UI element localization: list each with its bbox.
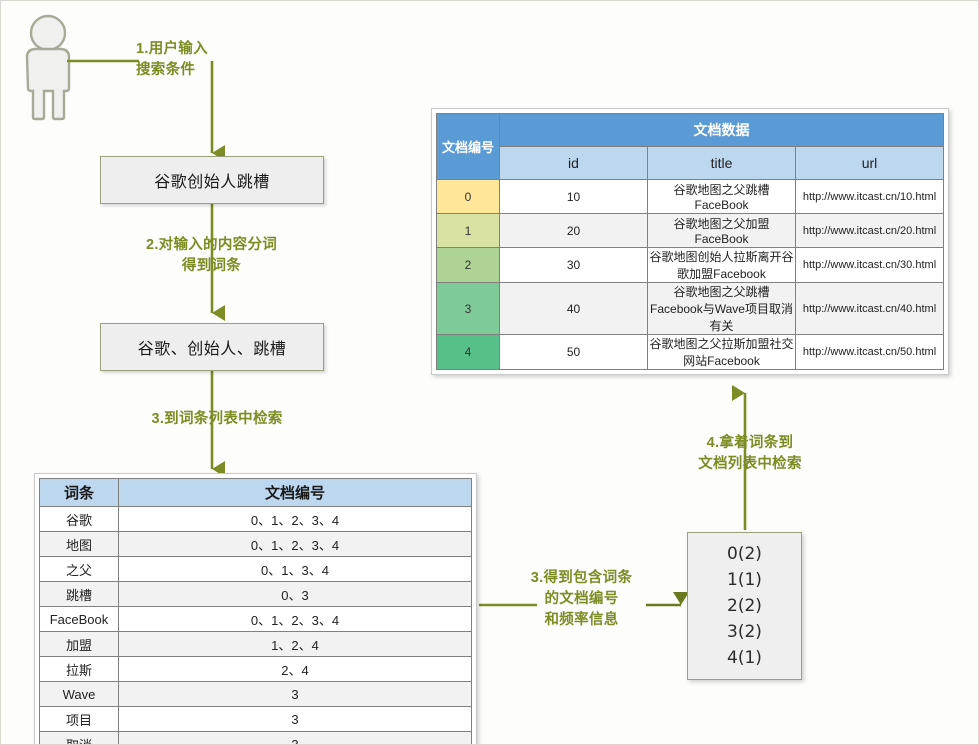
- doc-frequency-box: 0(2)1(1)2(2)3(2)4(1): [687, 532, 802, 680]
- term-table-row: Wave3: [40, 682, 472, 707]
- term-table-header-row: 词条 文档编号: [40, 479, 472, 507]
- term-table-cell-term: 谷歌: [40, 507, 119, 532]
- term-table-row: 地图0、1、2、3、4: [40, 532, 472, 557]
- doc-frequency-line: 1(1): [727, 567, 762, 593]
- doc-frequency-line: 4(1): [727, 645, 762, 671]
- doc-table-cell-url: http://www.itcast.cn/10.html: [796, 180, 944, 214]
- term-table-cell-docs: 0、1、2、3、4: [119, 532, 472, 557]
- term-table-row: 跳槽0、3: [40, 582, 472, 607]
- term-table-cell-term: Wave: [40, 682, 119, 707]
- doc-table-cell-docno: 1: [437, 214, 500, 248]
- query-input-box: 谷歌创始人跳槽: [100, 156, 324, 204]
- doc-frequency-line: 2(2): [727, 593, 762, 619]
- doc-table-cell-title: 谷歌地图之父拉斯加盟社交网站Facebook: [648, 335, 796, 370]
- step3-label: 3.到词条列表中检索: [137, 409, 297, 430]
- doc-table-cell-title: 谷歌地图之父跳槽FaceBook: [648, 180, 796, 214]
- doc-table-cell-docno: 4: [437, 335, 500, 370]
- doc-table-cell-url: http://www.itcast.cn/40.html: [796, 283, 944, 335]
- doc-table-row: 340谷歌地图之父跳槽Facebook与Wave项目取消有关http://www…: [437, 283, 944, 335]
- term-table-cell-docs: 0、1、2、3、4: [119, 607, 472, 632]
- doc-table-header-main: 文档数据: [500, 114, 944, 147]
- doc-table-subheader-title: title: [648, 147, 796, 180]
- doc-frequency-line: 0(2): [727, 541, 762, 567]
- doc-table-header-docno: 文档编号: [437, 114, 500, 180]
- step4-label: 4.拿着词条到 文档列表中检索: [685, 433, 815, 475]
- step1-label: 1.用户输入 搜索条件: [136, 39, 286, 81]
- doc-table-cell-docno: 2: [437, 248, 500, 283]
- term-table-cell-docs: 1、2、4: [119, 632, 472, 657]
- doc-table-cell-docno: 0: [437, 180, 500, 214]
- doc-table-cell-title: 谷歌地图创始人拉斯离开谷歌加盟Facebook: [648, 248, 796, 283]
- term-table-cell-term: 拉斯: [40, 657, 119, 682]
- term-table-row: 取消3: [40, 732, 472, 745]
- term-table-cell-docs: 0、3: [119, 582, 472, 607]
- term-index-table: 词条 文档编号 谷歌0、1、2、3、4地图0、1、2、3、4之父0、1、3、4跳…: [34, 473, 477, 745]
- term-table-row: 之父0、1、3、4: [40, 557, 472, 582]
- doc-table-row: 010谷歌地图之父跳槽FaceBookhttp://www.itcast.cn/…: [437, 180, 944, 214]
- step3b-label: 3.得到包含词条 的文档编号 和频率信息: [519, 568, 644, 631]
- step2-label: 2.对输入的内容分词 得到词条: [129, 235, 294, 277]
- doc-table-cell-id: 20: [500, 214, 648, 248]
- term-table-cell-term: 地图: [40, 532, 119, 557]
- term-table-cell-docs: 3: [119, 707, 472, 732]
- doc-table-cell-url: http://www.itcast.cn/30.html: [796, 248, 944, 283]
- diagram-canvas: 1.用户输入 搜索条件 2.对输入的内容分词 得到词条 3.到词条列表中检索 3…: [0, 0, 979, 745]
- term-table-row: 项目3: [40, 707, 472, 732]
- doc-table-cell-title: 谷歌地图之父加盟FaceBook: [648, 214, 796, 248]
- doc-table-cell-id: 10: [500, 180, 648, 214]
- term-table-cell-docs: 3: [119, 682, 472, 707]
- doc-frequency-line: 3(2): [727, 619, 762, 645]
- document-data-table: 文档编号 文档数据 id title url 010谷歌地图之父跳槽FaceBo…: [431, 108, 949, 375]
- user-actor-icon: [11, 13, 89, 121]
- doc-table-body: 010谷歌地图之父跳槽FaceBookhttp://www.itcast.cn/…: [437, 180, 944, 370]
- term-table-row: FaceBook0、1、2、3、4: [40, 607, 472, 632]
- doc-table-cell-url: http://www.itcast.cn/20.html: [796, 214, 944, 248]
- doc-table-row: 450谷歌地图之父拉斯加盟社交网站Facebookhttp://www.itca…: [437, 335, 944, 370]
- term-table-cell-docs: 3: [119, 732, 472, 745]
- term-table-row: 加盟1、2、4: [40, 632, 472, 657]
- term-table-header-term: 词条: [40, 479, 119, 507]
- tokenized-terms-box: 谷歌、创始人、跳槽: [100, 323, 324, 371]
- term-table-cell-term: 之父: [40, 557, 119, 582]
- doc-table-row: 230谷歌地图创始人拉斯离开谷歌加盟Facebookhttp://www.itc…: [437, 248, 944, 283]
- term-table-cell-docs: 0、1、2、3、4: [119, 507, 472, 532]
- term-table-body: 谷歌0、1、2、3、4地图0、1、2、3、4之父0、1、3、4跳槽0、3Face…: [40, 507, 472, 745]
- doc-table-subheader-id: id: [500, 147, 648, 180]
- doc-table-cell-id: 30: [500, 248, 648, 283]
- term-table-row: 谷歌0、1、2、3、4: [40, 507, 472, 532]
- term-table-cell-docs: 2、4: [119, 657, 472, 682]
- doc-table-cell-id: 50: [500, 335, 648, 370]
- doc-table-cell-id: 40: [500, 283, 648, 335]
- term-table-cell-term: 加盟: [40, 632, 119, 657]
- doc-table-cell-title: 谷歌地图之父跳槽Facebook与Wave项目取消有关: [648, 283, 796, 335]
- term-table-cell-term: 项目: [40, 707, 119, 732]
- term-table-cell-docs: 0、1、3、4: [119, 557, 472, 582]
- doc-table-cell-docno: 3: [437, 283, 500, 335]
- doc-table-cell-url: http://www.itcast.cn/50.html: [796, 335, 944, 370]
- doc-table-subheader-row: id title url: [437, 147, 944, 180]
- term-table-cell-term: 跳槽: [40, 582, 119, 607]
- term-table-cell-term: FaceBook: [40, 607, 119, 632]
- doc-table-row: 120谷歌地图之父加盟FaceBookhttp://www.itcast.cn/…: [437, 214, 944, 248]
- term-table-cell-term: 取消: [40, 732, 119, 745]
- doc-table-subheader-url: url: [796, 147, 944, 180]
- term-table-row: 拉斯2、4: [40, 657, 472, 682]
- term-table-header-docs: 文档编号: [119, 479, 472, 507]
